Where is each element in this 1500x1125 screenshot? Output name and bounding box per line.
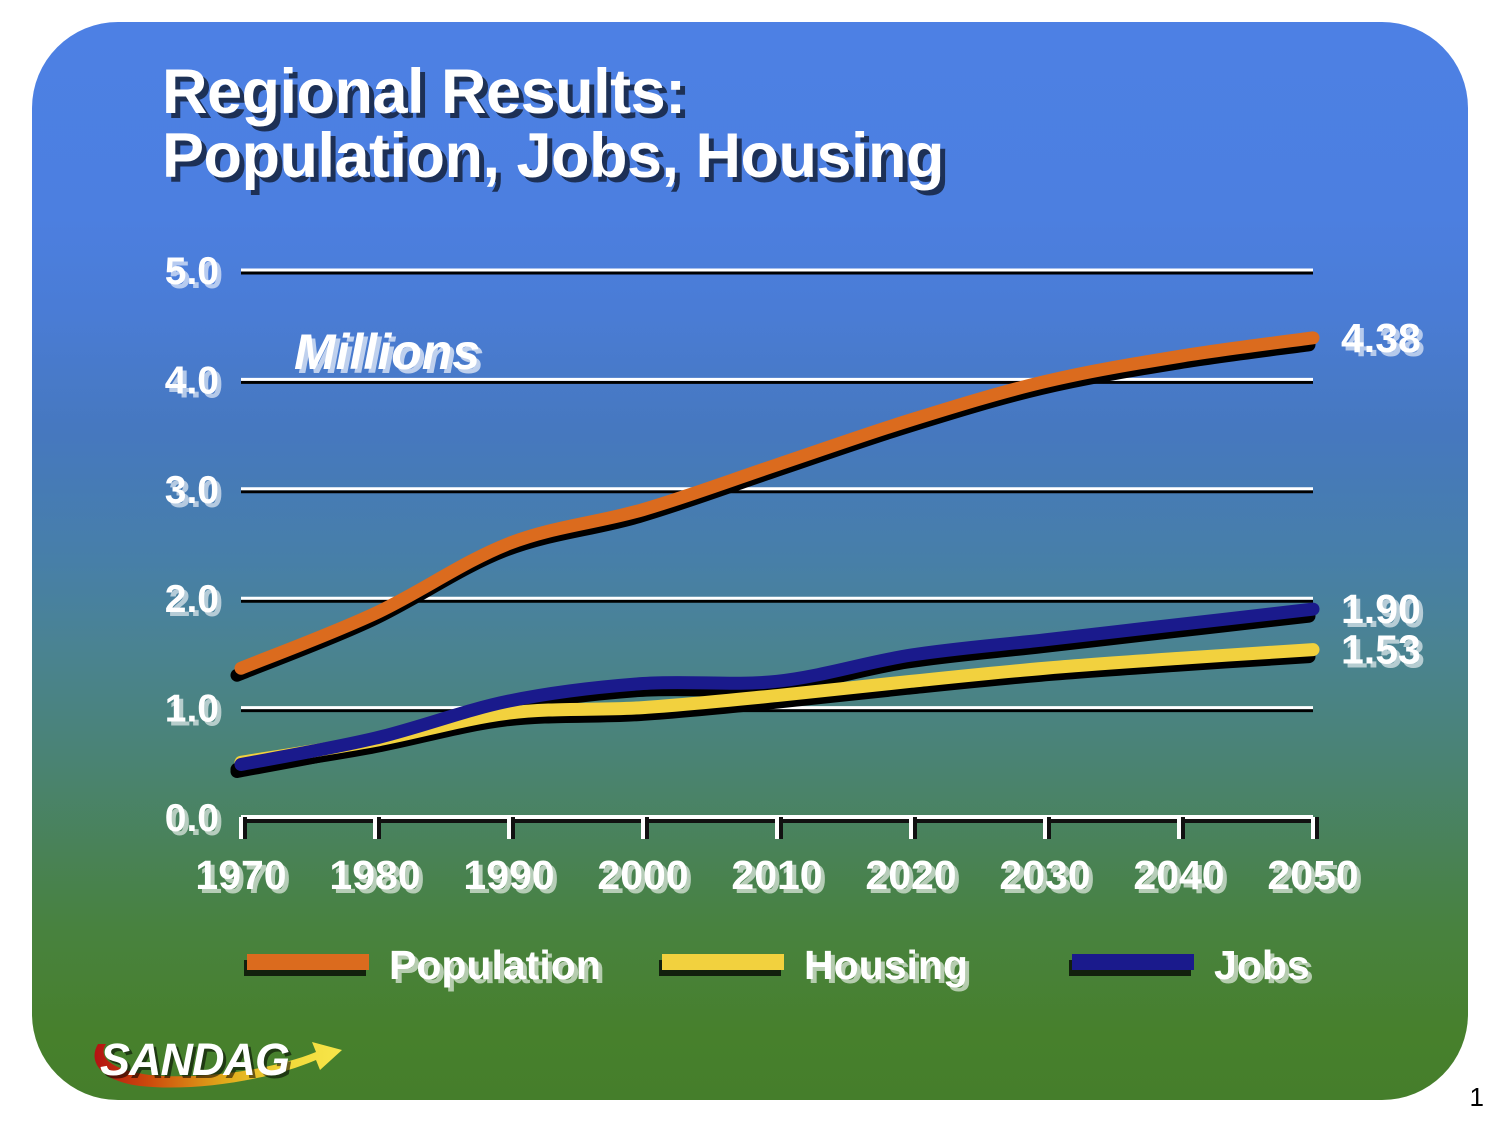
legend-swatch-housing xyxy=(662,954,784,970)
unit-label: MillionsMillions xyxy=(294,324,484,384)
series-line-shadow-housing xyxy=(237,657,1309,770)
y-axis-labels: 0.00.01.01.02.02.03.03.04.04.05.05.0 xyxy=(165,250,223,844)
axis xyxy=(241,817,1317,839)
y-axis-label: 2.0 xyxy=(165,578,219,621)
x-axis-label: 2050 xyxy=(1267,852,1358,898)
legend-label-jobs: Jobs xyxy=(1214,942,1310,988)
y-axis-label: 3.0 xyxy=(165,469,219,512)
y-axis-label: 4.0 xyxy=(165,359,219,402)
page-number: 1 xyxy=(1470,1082,1484,1113)
y-axis-label: 5.0 xyxy=(165,250,219,293)
legend-label-population: Population xyxy=(389,942,601,988)
legend-swatch-population xyxy=(247,954,369,970)
y-axis-label: 0.0 xyxy=(165,797,219,840)
y-axis-label: 1.0 xyxy=(165,688,219,731)
x-axis-label: 2020 xyxy=(865,852,956,898)
x-axis-labels: 1970197019801980199019902000200020102010… xyxy=(195,852,1362,902)
x-axis-label: 1990 xyxy=(463,852,554,898)
chart-legend: PopulationPopulationHousingHousingJobsJo… xyxy=(244,942,1314,992)
x-axis-label: 1970 xyxy=(195,852,286,898)
slide-canvas: Regional Results: Population, Jobs, Hous… xyxy=(32,22,1468,1100)
x-axis-label: 2000 xyxy=(597,852,688,898)
unit-label: Millions xyxy=(294,324,480,380)
series-line-population xyxy=(241,338,1313,668)
x-axis-label: 2030 xyxy=(999,852,1090,898)
x-axis-label: 2040 xyxy=(1133,852,1224,898)
data-label-4.38: 4.38 xyxy=(1341,315,1421,361)
legend-label-housing: Housing xyxy=(804,942,968,988)
data-end-labels: 4.384.381.901.901.531.53 xyxy=(1341,315,1425,677)
legend-swatch-jobs xyxy=(1072,954,1194,970)
data-label-1.90: 1.90 xyxy=(1341,586,1421,632)
sandag-logo-text: SANDAG xyxy=(100,1034,289,1086)
x-axis-label: 1980 xyxy=(329,852,420,898)
data-label-1.53: 1.53 xyxy=(1341,627,1421,673)
x-axis-label: 2010 xyxy=(731,852,822,898)
line-chart: 0.00.01.01.02.02.03.03.04.04.05.05.0 Mil… xyxy=(32,22,1468,1100)
